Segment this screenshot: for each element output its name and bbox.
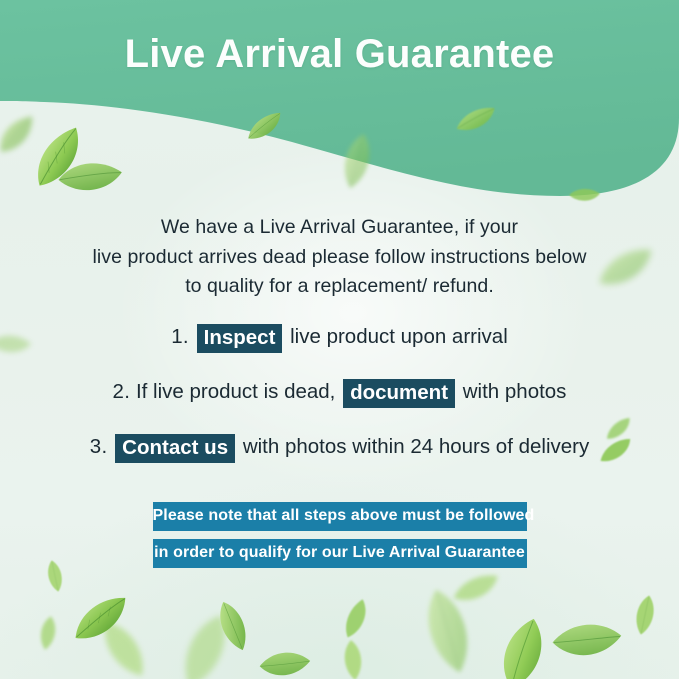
step-highlight-document: document [343,379,455,408]
step-highlight-inspect: Inspect [197,324,283,353]
page-title: Live Arrival Guarantee [0,31,679,77]
step-highlight-contact-us: Contact us [115,434,235,463]
notice-block: Please note that all steps above must be… [153,502,527,568]
intro-paragraph: We have a Live Arrival Guarantee, if you… [60,213,620,302]
intro-line-1: We have a Live Arrival Guarantee, if you… [60,213,620,243]
step-text-after: live product upon arrival [290,325,508,348]
intro-line-2: live product arrives dead please follow … [60,243,620,273]
step-number: 3. [90,435,108,458]
step-number: 2. [113,380,131,403]
guarantee-infographic: Live Arrival Guarantee We have a Live Ar… [0,0,679,679]
step-number: 1. [171,325,189,348]
steps-list: 1. Inspect live product upon arrival 2. … [30,322,650,462]
step-text-after: with photos within 24 hours of delivery [243,435,589,458]
step-item-1: 1. Inspect live product upon arrival [30,322,650,352]
step-text-after: with photos [463,380,567,403]
step-item-2: 2. If live product is dead, document wit… [30,377,650,407]
intro-line-3: to quality for a replacement/ refund. [60,272,620,302]
notice-bar-1: Please note that all steps above must be… [153,502,527,531]
step-item-3: 3. Contact us with photos within 24 hour… [30,432,650,462]
step-text-before: If live product is dead, [136,380,335,403]
content-area: We have a Live Arrival Guarantee, if you… [0,0,679,679]
notice-bar-2: in order to qualify for our Live Arrival… [153,539,527,568]
